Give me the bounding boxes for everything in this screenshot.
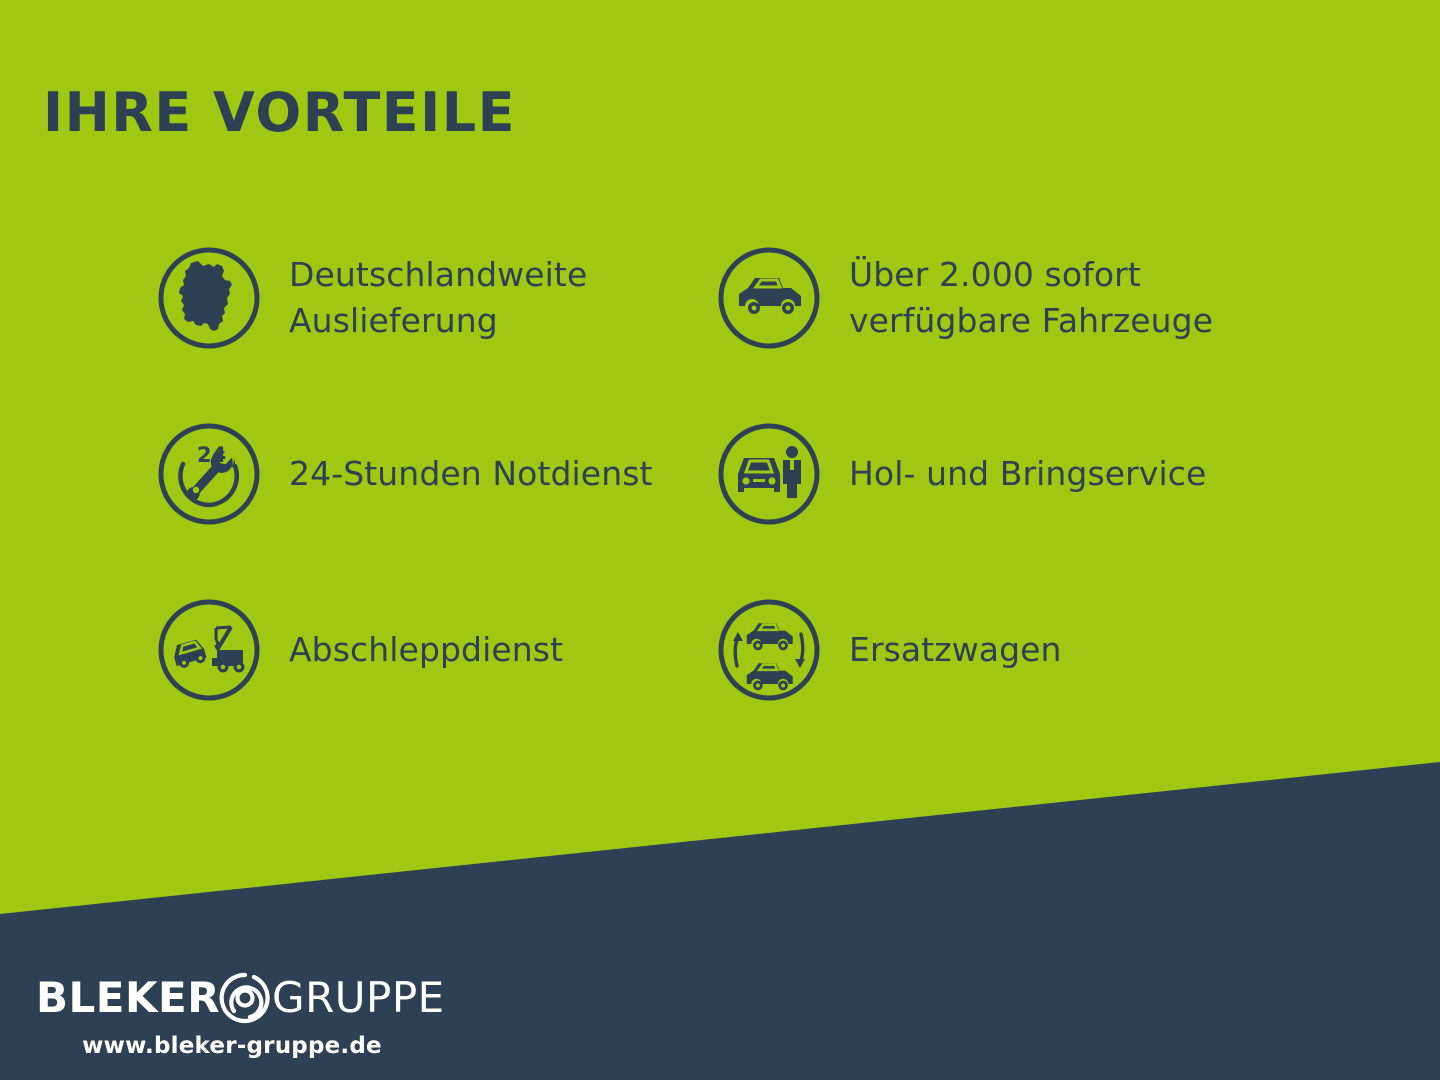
benefit-label: Hol- und Bringservice — [849, 451, 1206, 497]
slide-root: IHRE VORTEILE Deutschlandweite Ausliefer… — [0, 0, 1440, 1080]
logo-block[interactable]: BLEKER GRUPPE www.bleker-gruppe.de — [36, 972, 456, 1059]
car-side-icon — [715, 244, 823, 352]
logo-name-bold: BLEKER — [36, 977, 220, 1019]
benefit-item-abschleppdienst[interactable]: Abschleppdienst — [155, 562, 715, 738]
car-exchange-icon — [715, 596, 823, 704]
benefit-label: 24-Stunden Notdienst — [289, 451, 653, 497]
benefit-item-hol-und-bringservice[interactable]: Hol- und Bringservice — [715, 386, 1315, 562]
benefit-item-24-stunden-notdienst[interactable]: 24 24-Stunden Notdienst — [155, 386, 715, 562]
logo-wordmark: BLEKER GRUPPE — [36, 972, 456, 1024]
car-with-person-icon — [715, 420, 823, 528]
page-title: IHRE VORTEILE — [43, 86, 516, 140]
benefit-label: Über 2.000 sofort verfügbare Fahrzeuge — [849, 252, 1279, 343]
benefit-item-verfuegbare-fahrzeuge[interactable]: Über 2.000 sofort verfügbare Fahrzeuge — [715, 210, 1315, 386]
logo-name-light: GRUPPE — [272, 977, 445, 1019]
24-hours-wrench-icon: 24 — [155, 420, 263, 528]
germany-map-icon — [155, 244, 263, 352]
benefit-item-ersatzwagen[interactable]: Ersatzwagen — [715, 562, 1315, 738]
tow-truck-icon — [155, 596, 263, 704]
spiral-circle-icon — [214, 967, 276, 1029]
benefit-label: Abschleppdienst — [289, 627, 563, 673]
benefits-grid: Deutschlandweite Auslieferung Über 2.000… — [0, 210, 1440, 738]
benefit-label: Ersatzwagen — [849, 627, 1062, 673]
benefit-label: Deutschlandweite Auslieferung — [289, 252, 715, 343]
benefit-item-deutschlandweite-auslieferung[interactable]: Deutschlandweite Auslieferung — [155, 210, 715, 386]
logo-url[interactable]: www.bleker-gruppe.de — [36, 1033, 428, 1059]
